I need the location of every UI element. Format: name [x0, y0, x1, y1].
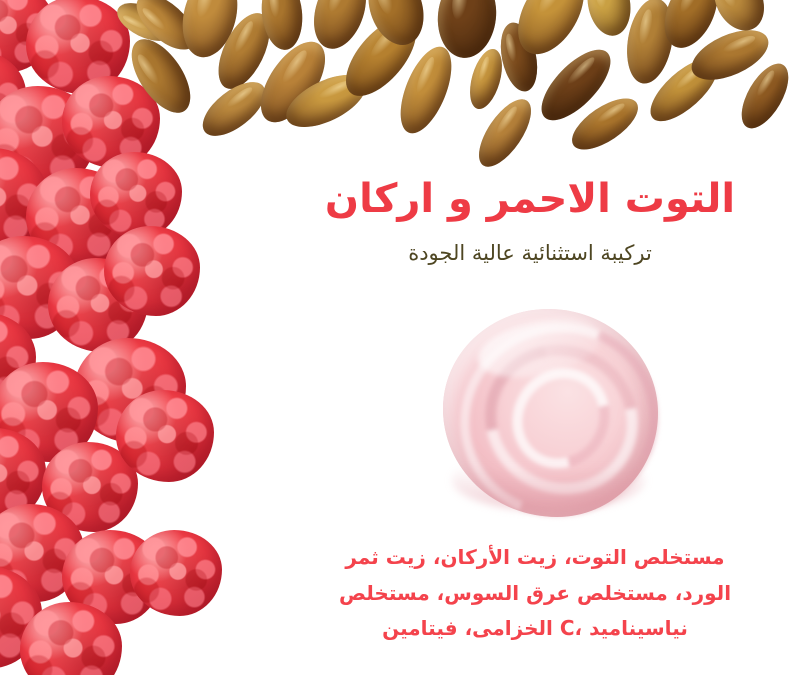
- raspberry-icon: [116, 390, 214, 482]
- raspberry-icon: [104, 226, 200, 316]
- argan-nut-icon: [434, 0, 500, 61]
- argan-nut-icon: [359, 0, 433, 52]
- argan-nut-icon: [641, 49, 728, 132]
- argan-nut-icon: [305, 0, 375, 55]
- raspberry-icon: [62, 76, 160, 168]
- argan-nut-icon: [621, 0, 679, 87]
- argan-nut-icon: [120, 29, 202, 122]
- argan-nut-icon: [194, 72, 274, 146]
- raspberry-icon: [130, 530, 222, 616]
- raspberry-icon: [0, 50, 26, 144]
- raspberry-icon: [42, 442, 138, 532]
- raspberry-icon: [20, 602, 122, 675]
- argan-nut-icon: [464, 45, 508, 112]
- argan-nut-icon: [208, 5, 280, 96]
- argan-nut-icon: [495, 19, 543, 95]
- raspberry-icon: [0, 0, 54, 72]
- argan-nut-icon: [279, 64, 374, 138]
- argan-kernels-scatter: [120, 0, 800, 166]
- raspberry-icon: [26, 0, 130, 94]
- argan-nut-icon: [390, 40, 462, 140]
- argan-nut-icon: [732, 56, 797, 135]
- cream-swatch-image: [443, 309, 658, 517]
- argan-nut-icon: [248, 31, 338, 133]
- product-banner: التوت الاحمر و اركان تركيبة استثنائية عا…: [0, 0, 800, 675]
- ingredients-line: الورد، مستخلص عرق السوس، مستخلص: [300, 576, 770, 612]
- page-title: التوت الاحمر و اركان: [280, 176, 780, 222]
- copy-block: التوت الاحمر و اركان تركيبة استثنائية عا…: [280, 176, 780, 267]
- argan-nut-icon: [333, 6, 429, 108]
- raspberry-icon: [90, 152, 182, 238]
- raspberry-icon: [74, 338, 186, 443]
- argan-nut-icon: [505, 0, 598, 65]
- argan-nut-icon: [684, 20, 775, 90]
- raspberry-icon: [0, 362, 98, 462]
- ingredients-text: مستخلص التوت، زيت الأركان، زيت ثمر الورد…: [300, 540, 770, 647]
- argan-nut-icon: [654, 0, 728, 56]
- raspberry-icon: [62, 530, 162, 624]
- argan-nut-icon: [469, 91, 541, 175]
- argan-nut-icon: [583, 0, 636, 39]
- raspberries-cluster: [0, 0, 280, 675]
- argan-nut-icon: [530, 39, 621, 132]
- raspberry-icon: [48, 258, 148, 352]
- raspberry-icon: [0, 504, 84, 602]
- argan-nut-icon: [564, 89, 646, 160]
- argan-nut-icon: [111, 0, 178, 49]
- raspberry-icon: [0, 148, 48, 250]
- cream-shadow-rim: [452, 448, 646, 510]
- argan-nut-icon: [258, 0, 306, 52]
- raspberry-icon: [0, 86, 96, 191]
- raspberry-icon: [26, 168, 130, 266]
- raspberry-icon: [0, 428, 46, 522]
- raspberry-icon: [0, 566, 42, 668]
- page-subtitle: تركيبة استثنائية عالية الجودة: [280, 240, 780, 267]
- ingredients-line: نياسيناميد ،C الخزامى، فيتامين: [300, 611, 770, 647]
- ingredients-line: مستخلص التوت، زيت الأركان، زيت ثمر: [300, 540, 770, 576]
- argan-nut-icon: [704, 0, 773, 39]
- argan-nut-icon: [174, 0, 245, 63]
- raspberry-icon: [0, 236, 80, 339]
- argan-nut-icon: [127, 0, 205, 59]
- raspberry-icon: [0, 312, 36, 410]
